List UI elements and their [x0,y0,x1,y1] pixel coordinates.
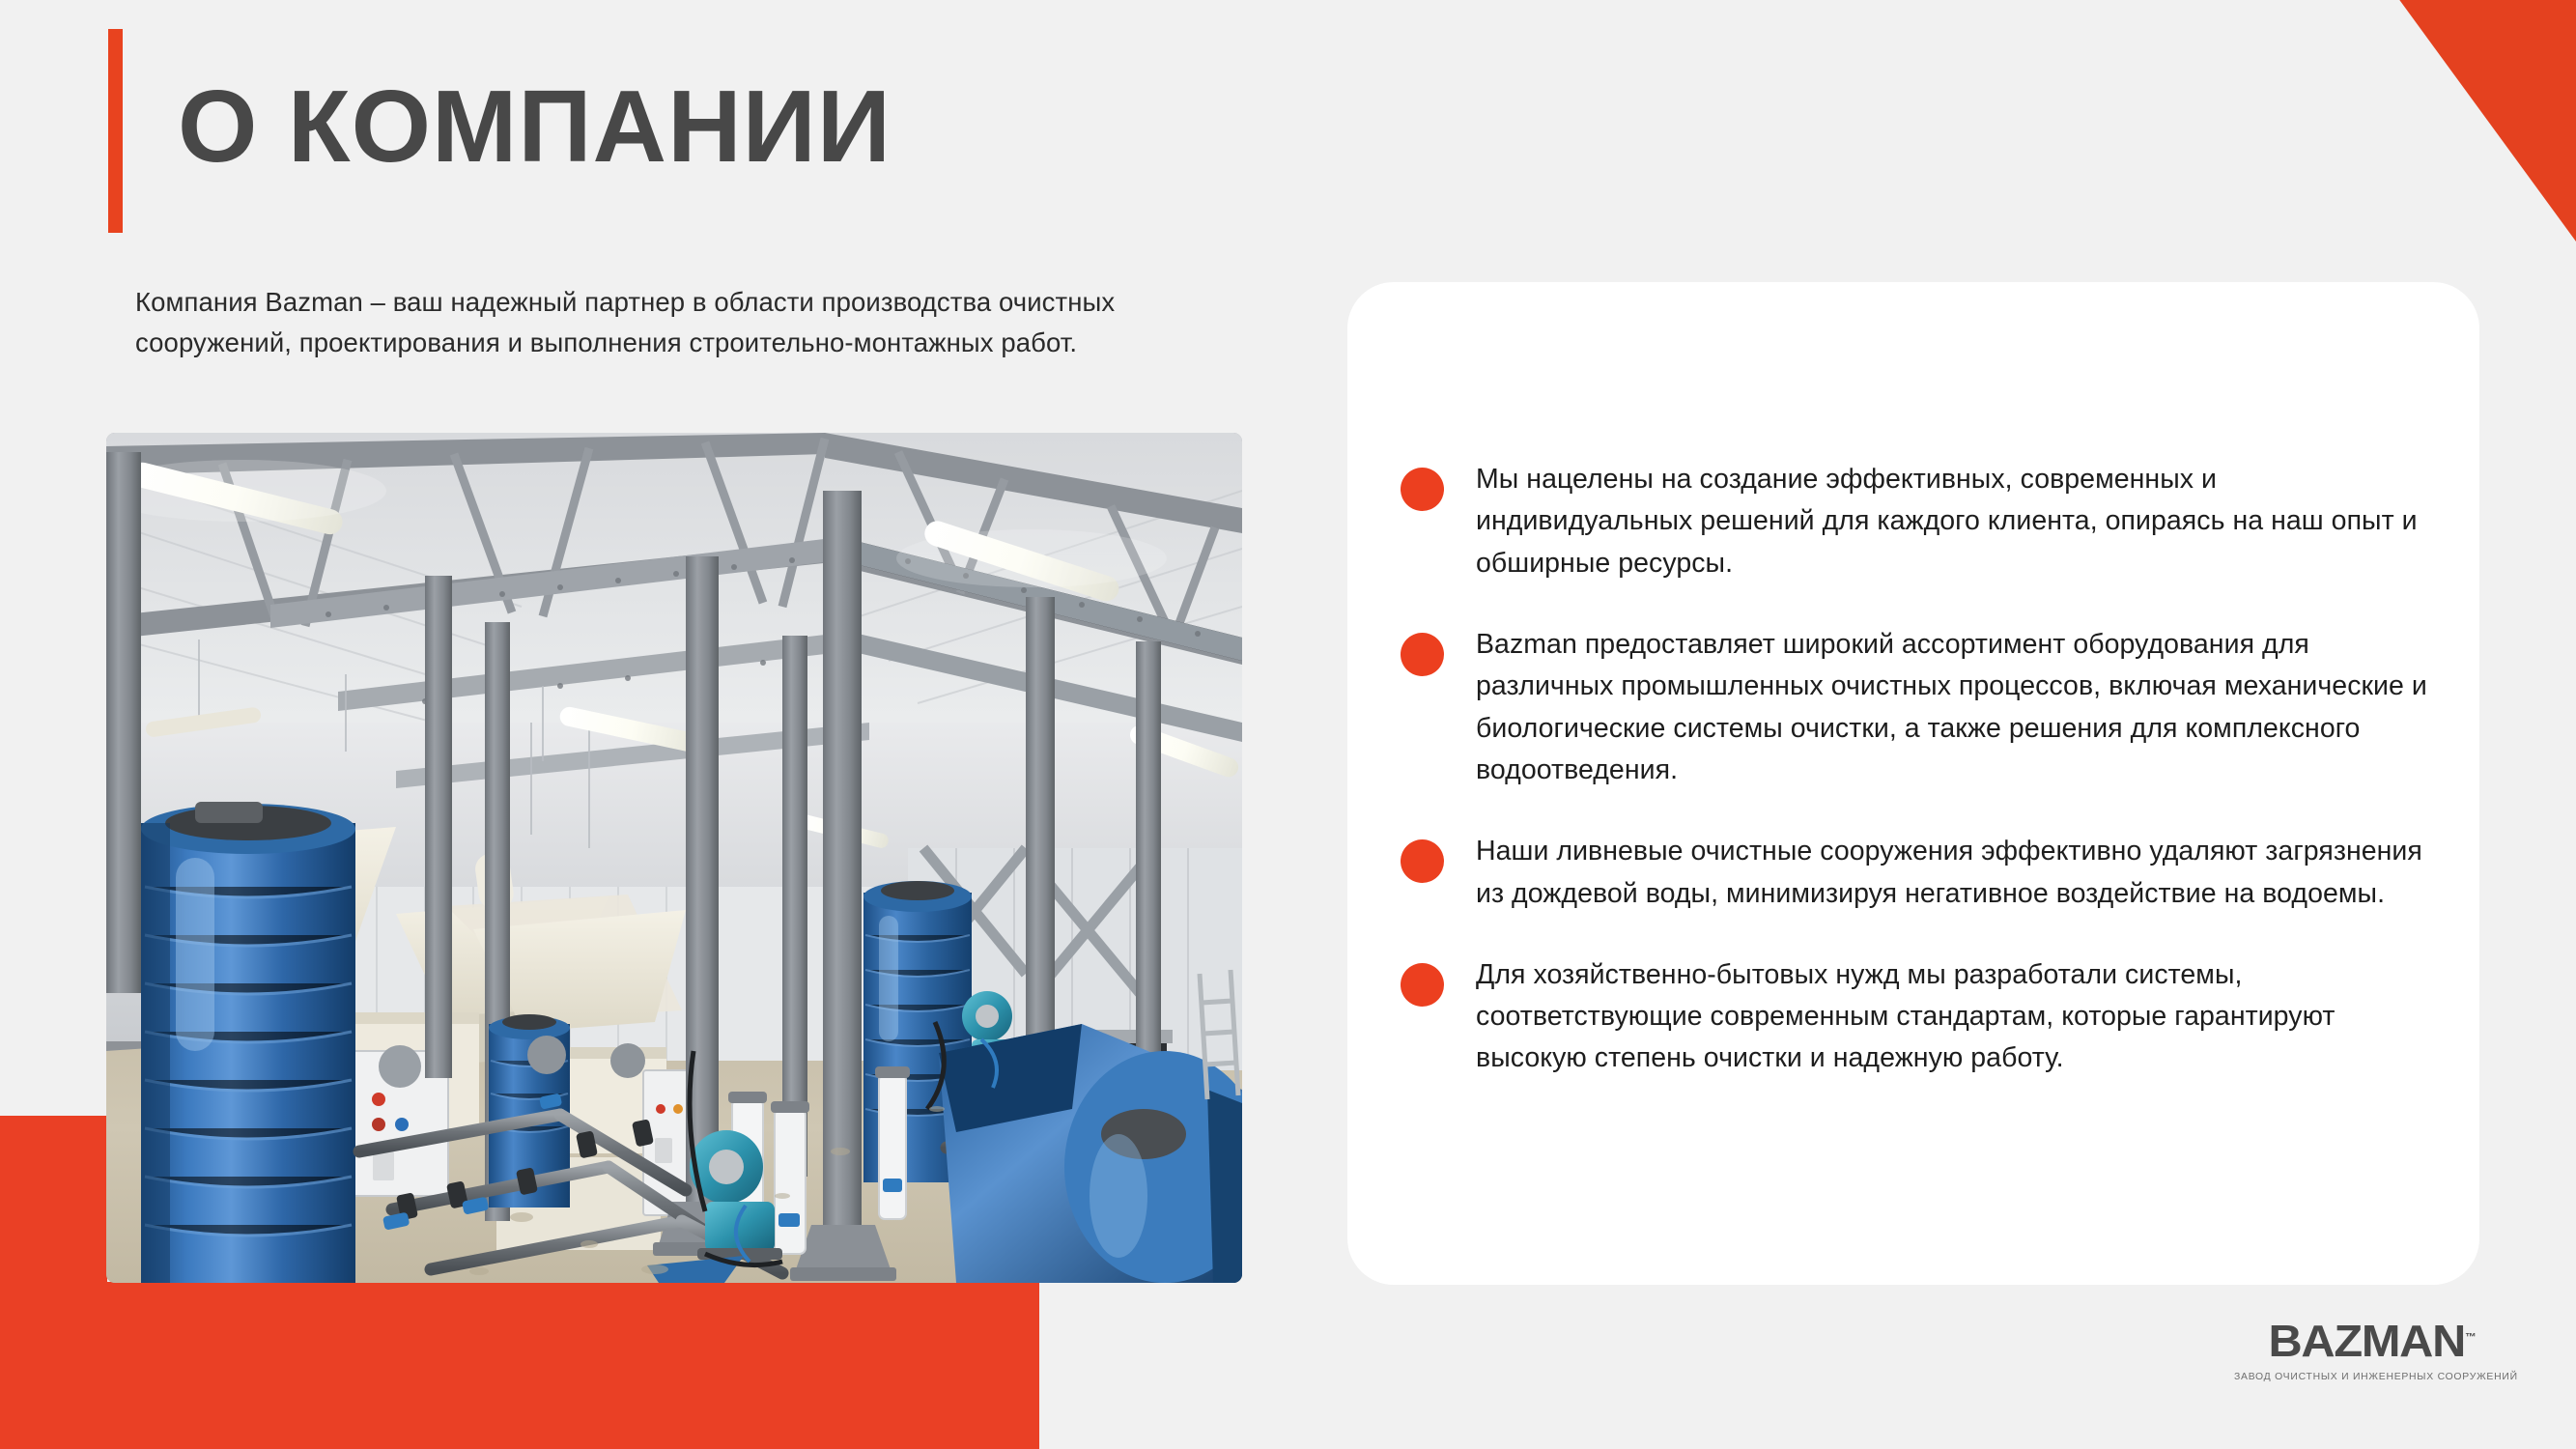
page-title: О КОМПАНИИ [178,75,892,178]
list-item-text: Для хозяйственно-бытовых нужд мы разрабо… [1476,959,2335,1074]
list-item: Мы нацелены на создание эффективных, сов… [1401,459,2429,584]
list-item: Bazman предоставляет широкий ассортимент… [1401,624,2429,791]
facility-photo [106,433,1242,1283]
bullet-dot-icon [1401,963,1444,1007]
bullet-dot-icon [1401,839,1444,883]
list-item: Для хозяйственно-бытовых нужд мы разрабо… [1401,954,2429,1080]
title-accent-bar [108,29,123,233]
list-item-text: Мы нацелены на создание эффективных, сов… [1476,464,2418,579]
bullet-dot-icon [1401,633,1444,676]
logo-wordmark-text: BAZMAN [2268,1316,2465,1366]
bullet-dot-icon [1401,468,1444,511]
intro-paragraph: Компания Bazman – ваш надежный партнер в… [135,282,1207,363]
list-item-text: Bazman предоставляет широкий ассортимент… [1476,629,2427,785]
list-item: Наши ливневые очистные сооружения эффект… [1401,831,2429,915]
logo-wordmark: BAZMAN™ [2234,1319,2510,1363]
trademark-symbol: ™ [2465,1332,2477,1344]
slide-about-company: О КОМПАНИИ Компания Bazman – ваш надежны… [0,0,2576,1449]
bullet-list: Мы нацелены на создание эффективных, сов… [1401,459,2429,1080]
facility-photo-illustration [106,433,1242,1283]
bottom-left-bar-decoration [0,1282,1039,1449]
top-right-triangle-decoration [2296,0,2576,241]
list-item-text: Наши ливневые очистные сооружения эффект… [1476,836,2422,908]
logo-tagline: ЗАВОД ОЧИСТНЫХ И ИНЖЕНЕРНЫХ СООРУЖЕНИЙ [2234,1372,2495,1382]
company-logo: BAZMAN™ ЗАВОД ОЧИСТНЫХ И ИНЖЕНЕРНЫХ СООР… [2234,1319,2495,1382]
